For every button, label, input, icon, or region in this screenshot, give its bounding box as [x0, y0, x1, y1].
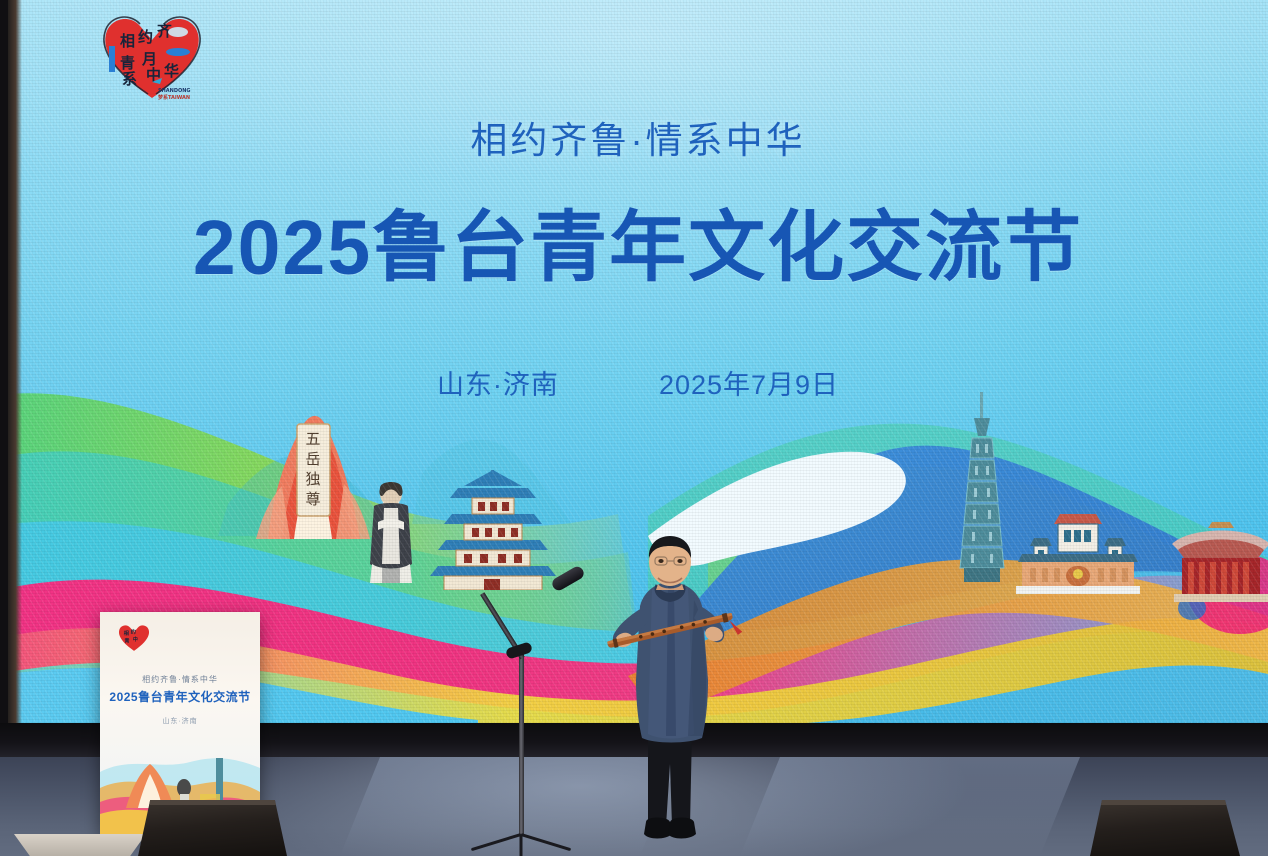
flute-performer	[596, 534, 746, 856]
screen-left-edge	[8, 0, 22, 726]
event-heart-logo: 相约齐 青月 系中华 SHANDONG 梦系TAIWAN	[96, 6, 208, 104]
svg-text:岳: 岳	[305, 450, 320, 468]
stage-monitor-right	[1090, 800, 1240, 856]
event-location: 山东·济南	[437, 363, 559, 402]
standee-heart-logo-icon: 相约 青中	[116, 621, 152, 653]
monitor-top-edge	[135, 800, 287, 805]
svg-text:相: 相	[120, 32, 135, 50]
event-kicker-text: 相约齐鲁·情系中华	[8, 110, 1268, 164]
svg-text:华: 华	[164, 62, 179, 80]
svg-text:约: 约	[138, 28, 153, 46]
mic-tripod-leg	[520, 835, 523, 856]
taipei-101-tower-icon	[950, 392, 1014, 582]
standee-title: 2025鲁台青年文化交流节	[100, 688, 260, 705]
chaoran-pagoda-icon	[428, 470, 558, 590]
microphone-stand-pole	[519, 648, 524, 836]
svg-text:系: 系	[122, 70, 137, 88]
confucius-statue-icon	[360, 478, 422, 583]
standee-kicker: 相约齐鲁·情系中华	[100, 674, 260, 685]
presidential-office-building-icon	[1008, 498, 1148, 594]
monitor-top-edge	[1090, 800, 1240, 805]
svg-text:五: 五	[305, 430, 320, 448]
svg-text:尊: 尊	[305, 490, 320, 508]
event-date: 2025年7月9日	[659, 363, 839, 402]
event-meta-row: 山东·济南 2025年7月9日	[8, 363, 1268, 402]
stage-scene: 五岳 独尊	[0, 0, 1268, 856]
red-temple-gate-icon	[1166, 520, 1268, 602]
svg-text:梦系TAIWAN: 梦系TAIWAN	[158, 94, 190, 101]
svg-text:独: 独	[305, 470, 320, 488]
standee-base-foot	[14, 834, 146, 856]
svg-text:SHANDONG: SHANDONG	[158, 88, 191, 94]
floor-beam-right	[740, 757, 1080, 856]
svg-text:约: 约	[131, 627, 136, 635]
standee-location: 山东·济南	[100, 716, 260, 726]
mount-tai-stele-icon: 五岳 独尊	[248, 404, 378, 539]
stage-monitor-left	[135, 800, 287, 856]
event-main-title: 2025鲁台青年文化交流节	[8, 186, 1268, 297]
